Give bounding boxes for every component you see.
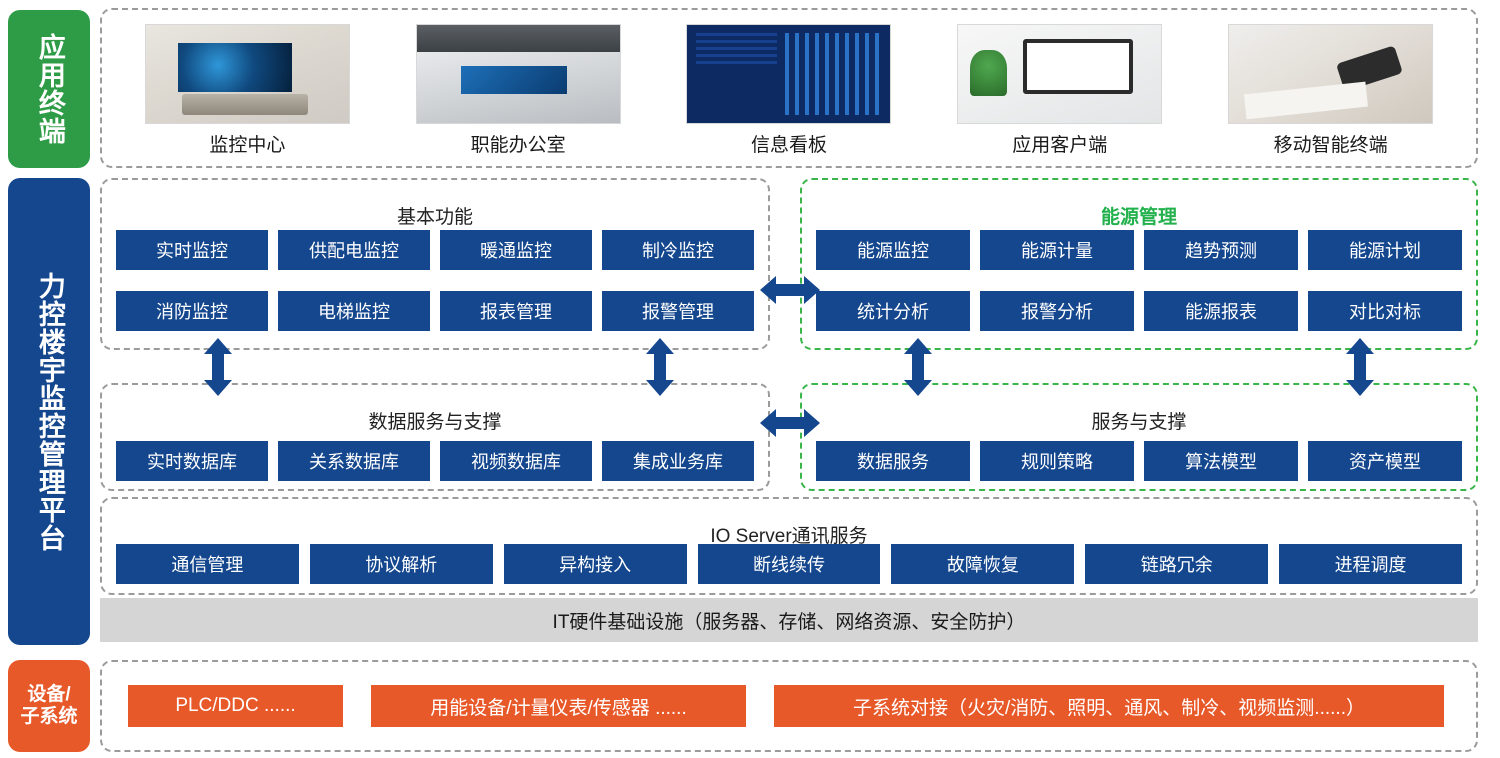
basic-functions-row-1: 实时监控 供配电监控 暖通监控 制冷监控 xyxy=(116,230,754,270)
device-layer-panel: PLC/DDC ...... 用能设备/计量仪表/传感器 ...... 子系统对… xyxy=(100,660,1478,752)
tile-report-management[interactable]: 报表管理 xyxy=(440,291,592,331)
sidebar-item-platform-label: 力控楼宇监控管理平台 xyxy=(33,272,65,552)
tile-relational-database[interactable]: 关系数据库 xyxy=(278,441,430,481)
basic-functions-title: 基本功能 xyxy=(102,202,768,229)
device-label-line1: 设备/ xyxy=(27,684,70,705)
tile-energy-devices-meters-sensors[interactable]: 用能设备/计量仪表/传感器 ...... xyxy=(371,685,746,727)
tile-hvac-monitor[interactable]: 暖通监控 xyxy=(440,230,592,270)
it-infrastructure-label: IT硬件基础设施（服务器、存储、网络资源、安全防护） xyxy=(553,607,1026,634)
arrow-vertical-energy-left xyxy=(903,338,933,396)
app-terminal-item-control-center[interactable]: 监控中心 xyxy=(132,24,362,157)
tile-video-database[interactable]: 视频数据库 xyxy=(440,441,592,481)
io-server-panel: IO Server通讯服务 通信管理 协议解析 异构接入 断线续传 故障恢复 链… xyxy=(100,497,1478,595)
tile-energy-report[interactable]: 能源报表 xyxy=(1144,291,1298,331)
tile-realtime-database[interactable]: 实时数据库 xyxy=(116,441,268,481)
tile-subsystem-integration[interactable]: 子系统对接（火灾/消防、照明、通风、制冷、视频监测......） xyxy=(774,685,1444,727)
tile-resume-after-disconnect[interactable]: 断线续传 xyxy=(698,544,881,584)
tile-fault-recovery[interactable]: 故障恢复 xyxy=(891,544,1074,584)
it-infrastructure-bar: IT硬件基础设施（服务器、存储、网络资源、安全防护） xyxy=(100,598,1478,642)
tile-communication-management[interactable]: 通信管理 xyxy=(116,544,299,584)
app-terminal-panel: 监控中心 职能办公室 信息看板 应用客户端 移动智能终端 xyxy=(100,8,1478,168)
office-photo xyxy=(416,24,621,124)
tile-asset-model[interactable]: 资产模型 xyxy=(1308,441,1462,481)
app-terminal-item-office[interactable]: 职能办公室 xyxy=(403,24,633,157)
control-center-photo xyxy=(145,24,350,124)
service-support-panel: 服务与支撑 数据服务 规则策略 算法模型 资产模型 xyxy=(800,383,1478,491)
tile-trend-forecast[interactable]: 趋势预测 xyxy=(1144,230,1298,270)
architecture-diagram: 应用终端 力控楼宇监控管理平台 设备/ 子系统 监控中心 职能办公室 信息看板 xyxy=(0,0,1500,758)
service-support-title: 服务与支撑 xyxy=(802,407,1476,434)
tile-refrigeration-monitor[interactable]: 制冷监控 xyxy=(602,230,754,270)
app-terminal-caption: 监控中心 xyxy=(209,130,285,157)
sidebar-item-device-subsystem-label: 设备/ 子系统 xyxy=(20,684,77,729)
app-terminal-caption: 职能办公室 xyxy=(471,130,566,157)
basic-functions-panel: 基本功能 实时监控 供配电监控 暖通监控 制冷监控 消防监控 电梯监控 报表管理… xyxy=(100,178,770,350)
tile-plc-ddc[interactable]: PLC/DDC ...... xyxy=(128,685,343,727)
laptop-photo xyxy=(957,24,1162,124)
arrow-horizontal-functions xyxy=(760,272,820,308)
tile-statistical-analysis[interactable]: 统计分析 xyxy=(816,291,970,331)
tile-alarm-analysis[interactable]: 报警分析 xyxy=(980,291,1134,331)
basic-functions-row-2: 消防监控 电梯监控 报表管理 报警管理 xyxy=(116,291,754,331)
energy-management-panel: 能源管理 能源监控 能源计量 趋势预测 能源计划 统计分析 报警分析 能源报表 … xyxy=(800,178,1478,350)
data-service-title: 数据服务与支撑 xyxy=(102,407,768,434)
app-terminal-caption: 应用客户端 xyxy=(1012,130,1107,157)
energy-management-title: 能源管理 xyxy=(802,202,1476,229)
mobile-photo xyxy=(1228,24,1433,124)
tile-link-redundancy[interactable]: 链路冗余 xyxy=(1085,544,1268,584)
sidebar-item-platform[interactable]: 力控楼宇监控管理平台 xyxy=(8,178,90,645)
tile-protocol-parsing[interactable]: 协议解析 xyxy=(310,544,493,584)
app-terminal-item-dashboard[interactable]: 信息看板 xyxy=(674,24,904,157)
arrow-horizontal-services xyxy=(760,405,820,441)
app-terminal-caption: 移动智能终端 xyxy=(1274,130,1388,157)
tile-integrated-business-database[interactable]: 集成业务库 xyxy=(602,441,754,481)
device-label-line2: 子系统 xyxy=(20,706,77,727)
arrow-vertical-basic-left xyxy=(203,338,233,396)
tile-realtime-monitor[interactable]: 实时监控 xyxy=(116,230,268,270)
app-terminal-caption: 信息看板 xyxy=(751,130,827,157)
data-service-row: 实时数据库 关系数据库 视频数据库 集成业务库 xyxy=(116,441,754,481)
app-terminal-item-client[interactable]: 应用客户端 xyxy=(945,24,1175,157)
sidebar-item-device-subsystem[interactable]: 设备/ 子系统 xyxy=(8,660,90,752)
tile-process-scheduling[interactable]: 进程调度 xyxy=(1279,544,1462,584)
sidebar-item-app-terminal-label: 应用终端 xyxy=(33,33,65,145)
tile-elevator-monitor[interactable]: 电梯监控 xyxy=(278,291,430,331)
tile-benchmark-comparison[interactable]: 对比对标 xyxy=(1308,291,1462,331)
app-terminal-item-mobile[interactable]: 移动智能终端 xyxy=(1216,24,1446,157)
tile-energy-metering[interactable]: 能源计量 xyxy=(980,230,1134,270)
app-terminal-row: 监控中心 职能办公室 信息看板 应用客户端 移动智能终端 xyxy=(102,10,1476,166)
tile-fire-monitor[interactable]: 消防监控 xyxy=(116,291,268,331)
arrow-vertical-energy-right xyxy=(1345,338,1375,396)
dashboard-photo xyxy=(686,24,891,124)
tile-energy-monitor[interactable]: 能源监控 xyxy=(816,230,970,270)
tile-power-distribution-monitor[interactable]: 供配电监控 xyxy=(278,230,430,270)
tile-data-service[interactable]: 数据服务 xyxy=(816,441,970,481)
energy-management-row-2: 统计分析 报警分析 能源报表 对比对标 xyxy=(816,291,1462,331)
energy-management-row-1: 能源监控 能源计量 趋势预测 能源计划 xyxy=(816,230,1462,270)
sidebar-item-app-terminal[interactable]: 应用终端 xyxy=(8,10,90,168)
data-service-panel: 数据服务与支撑 实时数据库 关系数据库 视频数据库 集成业务库 xyxy=(100,383,770,491)
tile-energy-plan[interactable]: 能源计划 xyxy=(1308,230,1462,270)
arrow-vertical-basic-right xyxy=(645,338,675,396)
tile-heterogeneous-access[interactable]: 异构接入 xyxy=(504,544,687,584)
tile-algorithm-model[interactable]: 算法模型 xyxy=(1144,441,1298,481)
io-server-row: 通信管理 协议解析 异构接入 断线续传 故障恢复 链路冗余 进程调度 xyxy=(116,544,1462,584)
tile-alarm-management[interactable]: 报警管理 xyxy=(602,291,754,331)
service-support-row: 数据服务 规则策略 算法模型 资产模型 xyxy=(816,441,1462,481)
tile-rule-policy[interactable]: 规则策略 xyxy=(980,441,1134,481)
device-layer-row: PLC/DDC ...... 用能设备/计量仪表/传感器 ...... 子系统对… xyxy=(102,662,1476,750)
